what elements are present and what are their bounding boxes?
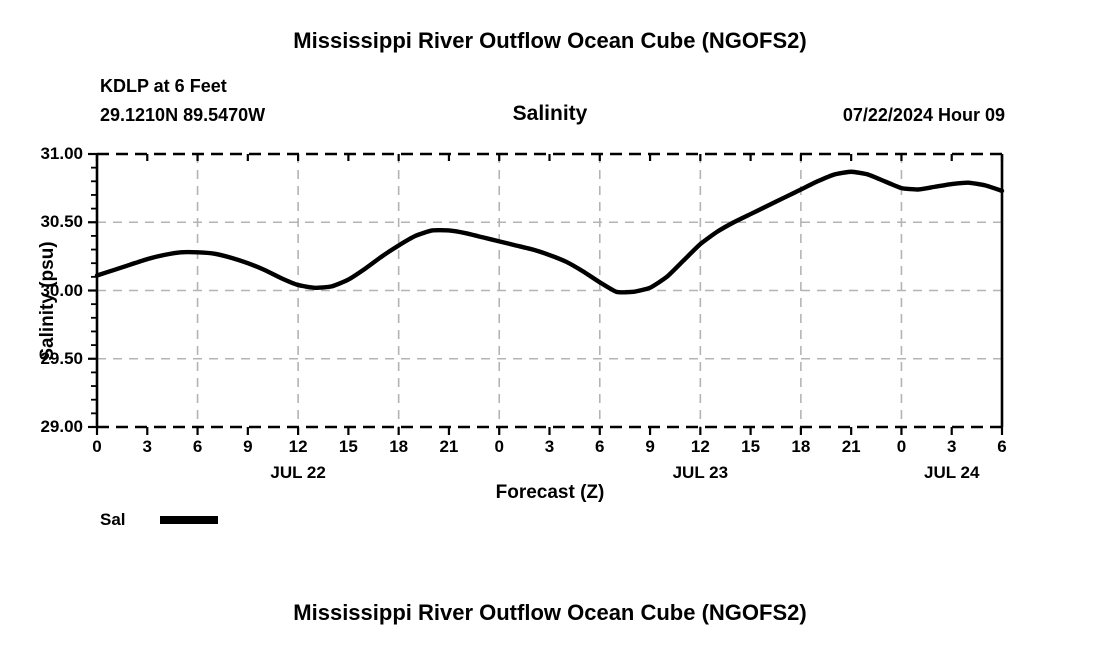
x-tick-label: 9	[630, 437, 670, 457]
day-label: JUL 22	[243, 463, 353, 483]
x-tick-label: 6	[178, 437, 218, 457]
x-tick-label: 9	[228, 437, 268, 457]
chart-plot-area	[0, 0, 1100, 500]
x-tick-label: 18	[379, 437, 419, 457]
x-tick-label: 3	[932, 437, 972, 457]
y-axis-title: Salinity (psu)	[37, 161, 59, 441]
data-series-group	[97, 172, 1002, 293]
x-tick-label: 3	[127, 437, 167, 457]
x-tick-label: 15	[328, 437, 368, 457]
legend-label: Sal	[100, 510, 126, 530]
x-tick-label: 12	[680, 437, 720, 457]
x-tick-label: 0	[881, 437, 921, 457]
x-tick-label: 12	[278, 437, 318, 457]
day-label: JUL 24	[897, 463, 1007, 483]
x-tick-label: 6	[580, 437, 620, 457]
x-tick-label: 0	[479, 437, 519, 457]
day-label: JUL 23	[645, 463, 755, 483]
x-tick-label: 6	[982, 437, 1022, 457]
x-tick-label: 18	[781, 437, 821, 457]
chart-page: Mississippi River Outflow Ocean Cube (NG…	[0, 0, 1100, 650]
x-tick-label: 15	[731, 437, 771, 457]
x-axis-ticks	[97, 154, 1002, 435]
series-line-sal	[97, 172, 1002, 293]
x-tick-label: 3	[530, 437, 570, 457]
x-tick-label: 21	[429, 437, 469, 457]
x-tick-label: 21	[831, 437, 871, 457]
y-gridlines	[97, 222, 1002, 359]
page-title-bottom: Mississippi River Outflow Ocean Cube (NG…	[0, 600, 1100, 626]
x-tick-label: 0	[77, 437, 117, 457]
legend-line-swatch	[160, 516, 218, 524]
y-axis-ticks	[88, 154, 97, 427]
x-axis-title: Forecast (Z)	[0, 482, 1100, 504]
